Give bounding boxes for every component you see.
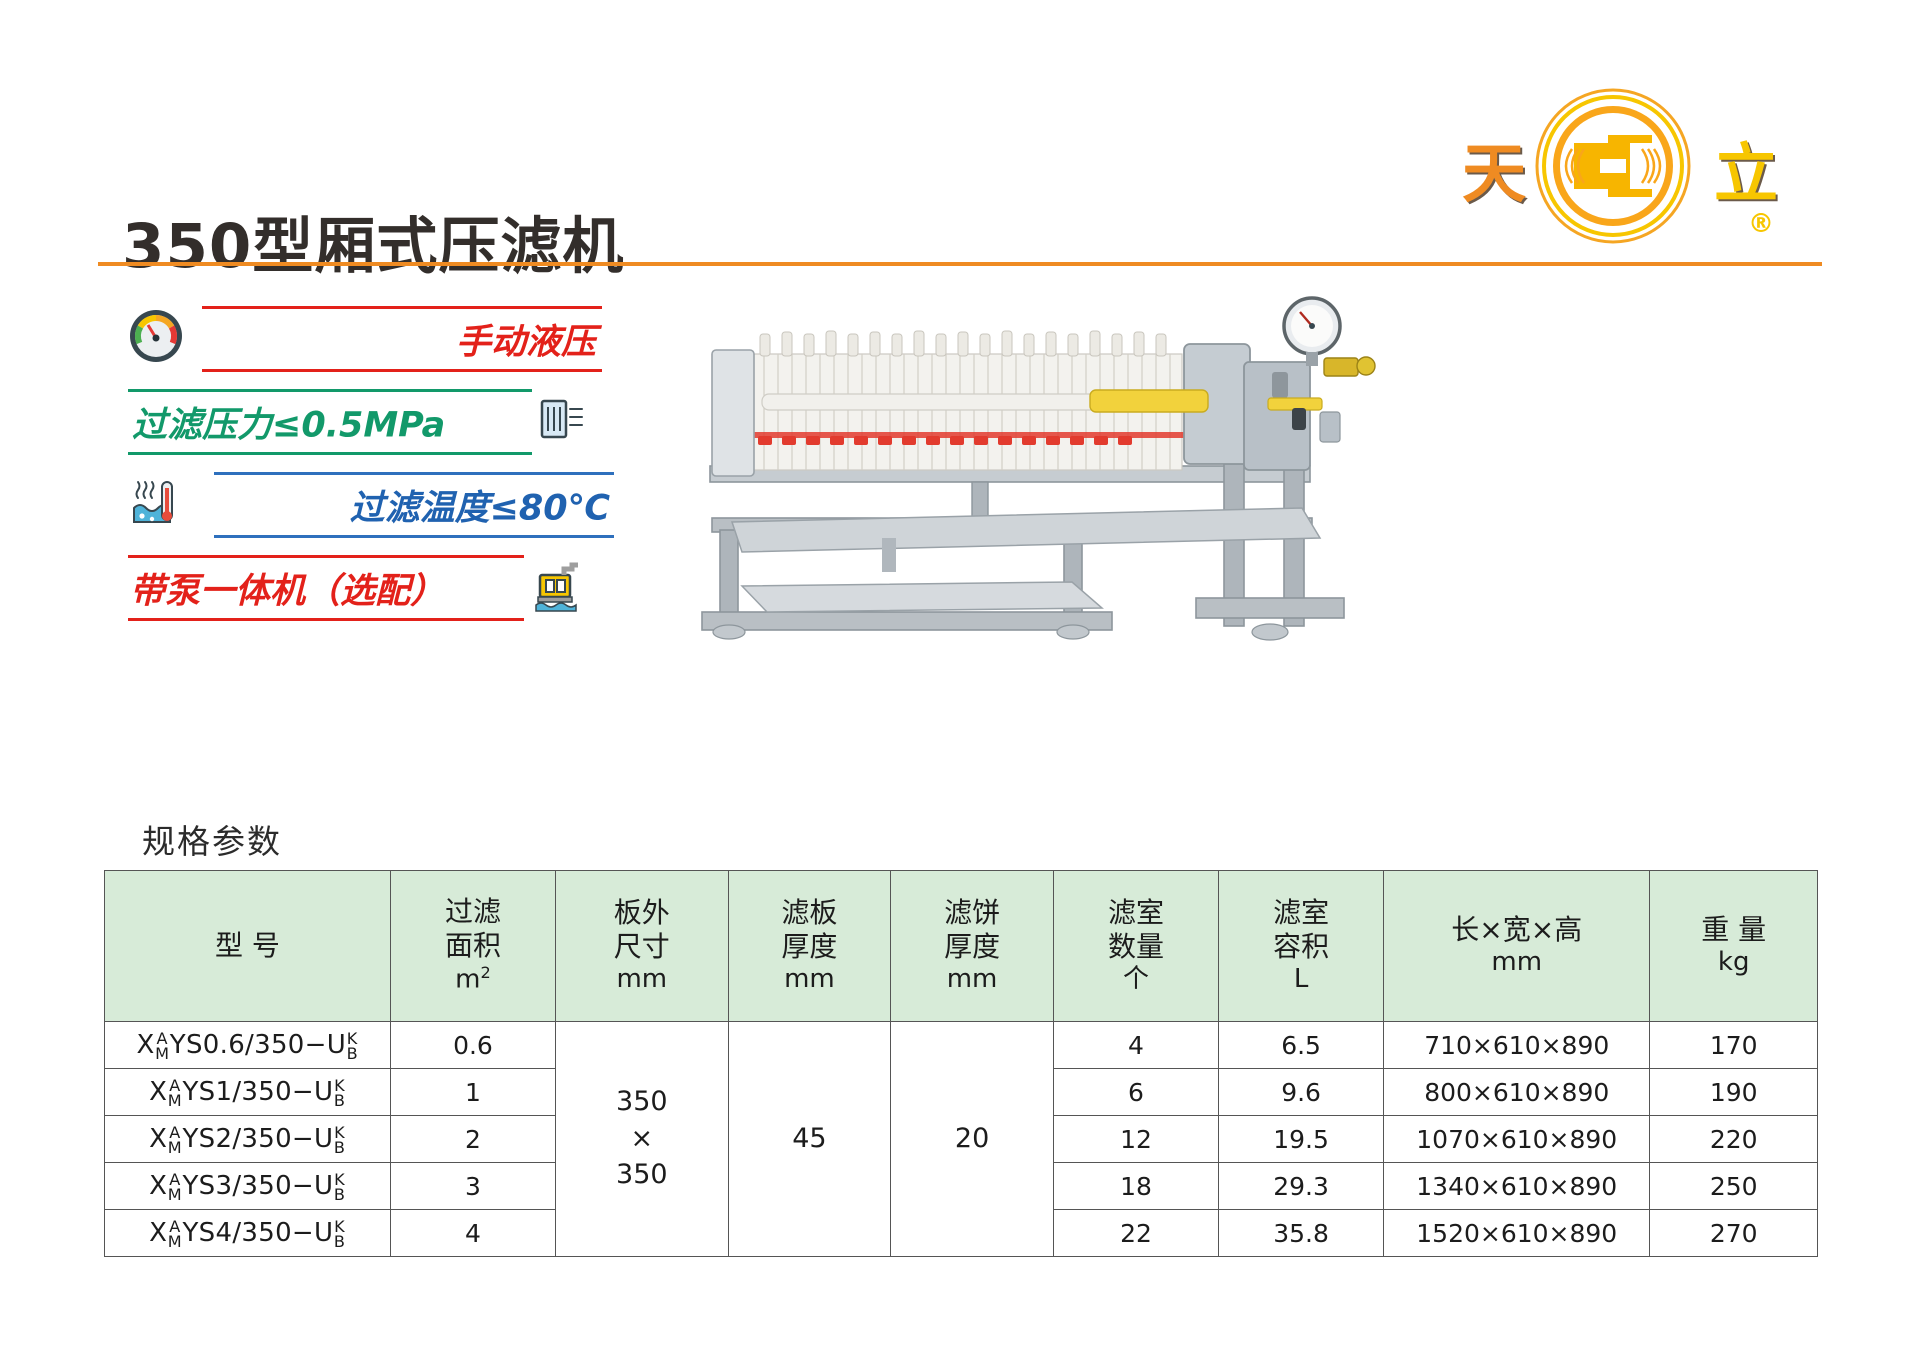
logo-li-char: 立 — [1714, 143, 1778, 207]
table-header-row: 型 号 过滤 面积 m2 板外 尺寸 mm 滤板 厚度 mm — [105, 871, 1818, 1022]
header-filter-area: 过滤 面积 m2 — [390, 871, 555, 1022]
feature-list: 手动液压 过滤压力≤0.5MPa — [128, 300, 648, 632]
unit-label: mm — [729, 964, 891, 996]
pump-icon — [530, 557, 586, 613]
header-weight: 重 量 kg — [1650, 871, 1818, 1022]
filter-plate-icon — [534, 391, 590, 447]
feature-row-body: 手动液压 — [202, 300, 602, 378]
unit-label: L — [1219, 964, 1383, 996]
product-photo — [672, 286, 1472, 646]
header-chamber-count: 滤室 数量 个 — [1053, 871, 1218, 1022]
cell-chamber-volume: 9.6 — [1219, 1069, 1384, 1116]
model-stack-am: AM — [168, 1078, 182, 1109]
cell-dimensions: 1340×610×890 — [1384, 1163, 1650, 1210]
logo-emblem-icon — [1534, 87, 1692, 245]
table-row: XAMYS0.6/350−UKB 0.6 350 × 350 45 20 4 6… — [105, 1022, 1818, 1069]
cell-filter-area: 4 — [390, 1210, 555, 1257]
feature-label: 带泵一体机（选配） — [130, 563, 445, 614]
header-chamber-volume: 滤室 容积 L — [1219, 871, 1384, 1022]
header-dimensions: 长×宽×高 mm — [1384, 871, 1650, 1022]
header-divider — [98, 262, 1822, 266]
cell-filter-area: 1 — [390, 1069, 555, 1116]
cell-chamber-volume: 19.5 — [1219, 1116, 1384, 1163]
model-stack-kb: KB — [334, 1078, 345, 1109]
spec-heading: 规格参数 — [142, 815, 282, 863]
cell-chamber-volume: 29.3 — [1219, 1163, 1384, 1210]
cell-chamber-count: 12 — [1053, 1116, 1218, 1163]
model-stack-kb: KB — [334, 1172, 345, 1203]
feature-row-body: 过滤压力≤0.5MPa — [128, 383, 532, 461]
feature-line-top — [214, 472, 614, 475]
logo-tian-char: 天 — [1462, 143, 1526, 207]
cell-chamber-count: 6 — [1053, 1069, 1218, 1116]
cell-chamber-count: 22 — [1053, 1210, 1218, 1257]
product-spec-sheet: 350型厢式压滤机 天 立 ® — [0, 0, 1920, 1354]
header-plate-size: 板外 尺寸 mm — [556, 871, 729, 1022]
feature-manual-hydraulic: 手动液压 — [128, 300, 648, 378]
company-logo: 天 立 ® — [1452, 85, 1802, 245]
feature-label: 手动液压 — [456, 314, 596, 365]
cell-dimensions: 800×610×890 — [1384, 1069, 1650, 1116]
cell-filter-area: 3 — [390, 1163, 555, 1210]
unit-label: kg — [1650, 947, 1817, 979]
cell-dimensions: 710×610×890 — [1384, 1022, 1650, 1069]
specification-table: 型 号 过滤 面积 m2 板外 尺寸 mm 滤板 厚度 mm — [104, 870, 1818, 1257]
page-title: 350型厢式压滤机 — [122, 196, 624, 285]
cell-model: XAMYS2/350−UKB — [105, 1116, 391, 1163]
cell-filter-area: 0.6 — [390, 1022, 555, 1069]
feature-line-bottom — [128, 618, 524, 621]
header-cake-thickness: 滤饼 厚度 mm — [891, 871, 1054, 1022]
feature-line-top — [128, 389, 532, 392]
model-stack-kb: KB — [347, 1031, 358, 1062]
cell-filter-area: 2 — [390, 1116, 555, 1163]
gauge-icon — [128, 308, 184, 364]
unit-label: mm — [1384, 947, 1649, 979]
model-stack-kb: KB — [334, 1125, 345, 1156]
cell-dimensions: 1520×610×890 — [1384, 1210, 1650, 1257]
model-stack-am: AM — [168, 1172, 182, 1203]
feature-line-top — [202, 306, 602, 309]
cell-weight: 220 — [1650, 1116, 1818, 1163]
cell-model: XAMYS1/350−UKB — [105, 1069, 391, 1116]
model-stack-kb: KB — [334, 1219, 345, 1250]
model-stack-am: AM — [155, 1031, 169, 1062]
thermometer-icon — [128, 474, 184, 530]
feature-filtration-pressure: 过滤压力≤0.5MPa — [128, 383, 648, 461]
cell-dimensions: 1070×610×890 — [1384, 1116, 1650, 1163]
cell-plate-size: 350 × 350 — [556, 1022, 729, 1257]
cell-plate-thickness: 45 — [728, 1022, 891, 1257]
cell-weight: 190 — [1650, 1069, 1818, 1116]
feature-line-bottom — [128, 452, 532, 455]
cell-chamber-count: 18 — [1053, 1163, 1218, 1210]
model-stack-am: AM — [168, 1125, 182, 1156]
cell-weight: 250 — [1650, 1163, 1818, 1210]
header-model: 型 号 — [105, 871, 391, 1022]
unit-label: 个 — [1054, 964, 1218, 996]
cell-chamber-volume: 6.5 — [1219, 1022, 1384, 1069]
cell-model: XAMYS4/350−UKB — [105, 1210, 391, 1257]
cell-weight: 270 — [1650, 1210, 1818, 1257]
registered-trademark-icon: ® — [1748, 209, 1774, 239]
unit-label: mm — [556, 964, 728, 996]
cell-chamber-count: 4 — [1053, 1022, 1218, 1069]
feature-filtration-temperature: 过滤温度≤80℃ — [128, 466, 648, 544]
header-plate-thickness: 滤板 厚度 mm — [728, 871, 891, 1022]
feature-row-body: 带泵一体机（选配） — [128, 549, 524, 627]
feature-line-bottom — [202, 369, 602, 372]
unit-label: m2 — [391, 963, 555, 996]
unit-label: mm — [891, 964, 1053, 996]
cell-weight: 170 — [1650, 1022, 1818, 1069]
cell-model: XAMYS0.6/350−UKB — [105, 1022, 391, 1069]
feature-line-bottom — [214, 535, 614, 538]
feature-label: 过滤压力≤0.5MPa — [132, 397, 445, 448]
cell-cake-thickness: 20 — [891, 1022, 1054, 1257]
feature-pump-integrated: 带泵一体机（选配） — [128, 549, 648, 627]
cell-chamber-volume: 35.8 — [1219, 1210, 1384, 1257]
feature-label: 过滤温度≤80℃ — [350, 480, 610, 531]
model-stack-am: AM — [168, 1219, 182, 1250]
feature-row-body: 过滤温度≤80℃ — [214, 466, 614, 544]
cell-model: XAMYS3/350−UKB — [105, 1163, 391, 1210]
feature-line-top — [128, 555, 524, 558]
